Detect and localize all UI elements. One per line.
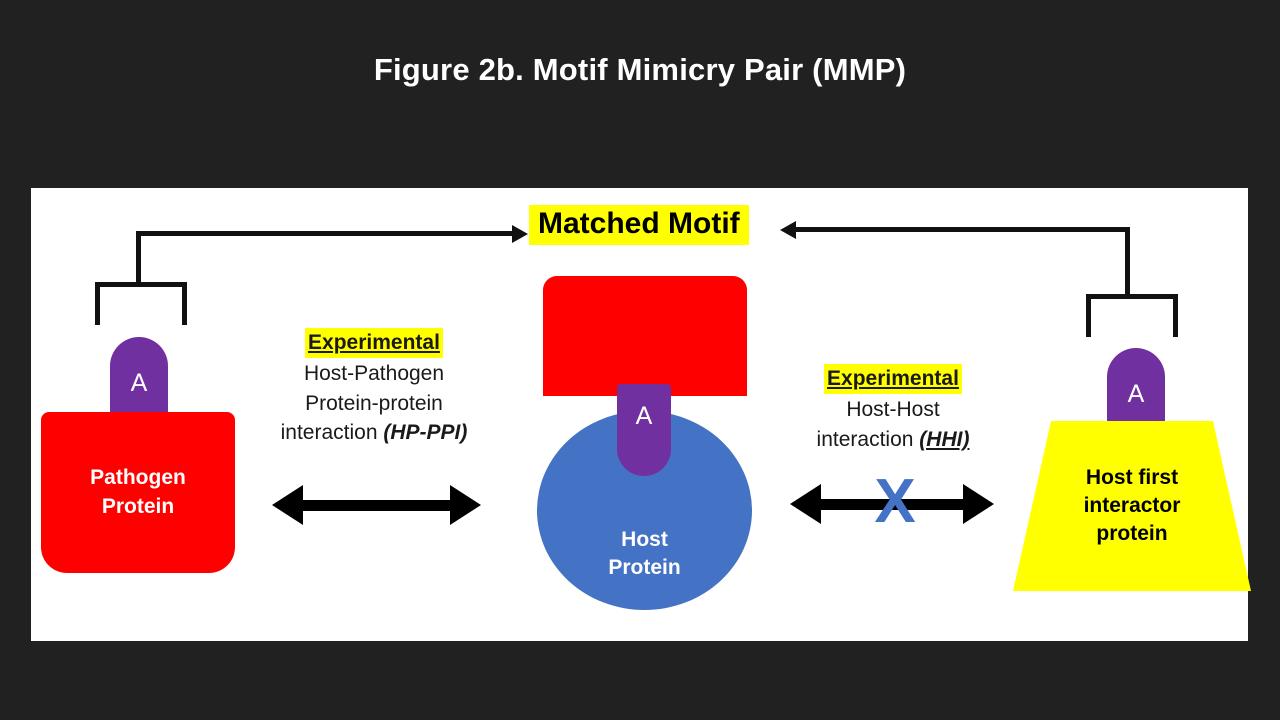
interaction-arrow-hp-ppi (272, 485, 481, 525)
right-connector-stem (1125, 227, 1130, 297)
matched-motif-label: Matched Motif (529, 205, 749, 245)
annotation-hp-ppi-code: (HP-PPI) (383, 421, 467, 444)
pathogen-protein-label-line2: Protein (102, 493, 174, 521)
annotation-hp-ppi-line3-prefix: interaction (281, 421, 384, 444)
arrow-head-right-icon (963, 484, 994, 524)
annotation-hhi-line1: Host-Host (782, 395, 1004, 425)
right-connector-arrowhead-icon (780, 221, 796, 239)
right-bracket-leg-right (1173, 294, 1178, 337)
host-interactor-label-line1: Host first (1086, 464, 1178, 492)
annotation-hhi: Experimental Host-Host interaction (HHI) (782, 364, 1004, 454)
center-pathogen-block (543, 276, 747, 396)
motif-capsule-host: A (617, 384, 671, 476)
annotation-hp-ppi-heading: Experimental (305, 328, 443, 358)
left-connector-line (136, 231, 520, 236)
arrow-shaft (300, 500, 453, 511)
arrow-head-right-icon (450, 485, 481, 525)
left-bracket-leg-left (95, 282, 100, 325)
left-connector-stem (136, 231, 141, 284)
annotation-hp-ppi-line2: Protein-protein (248, 389, 500, 419)
left-bracket-leg-right (182, 282, 187, 325)
host-interactor-label-line2: interactor (1084, 492, 1181, 520)
no-interaction-x-icon: X (868, 468, 922, 536)
right-connector-line (795, 227, 1130, 232)
annotation-hp-ppi: Experimental Host-Pathogen Protein-prote… (248, 328, 500, 448)
right-bracket-leg-left (1086, 294, 1091, 337)
arrow-head-left-icon (790, 484, 821, 524)
annotation-hp-ppi-line1: Host-Pathogen (248, 359, 500, 389)
page-title: Figure 2b. Motif Mimicry Pair (MMP) (0, 52, 1280, 88)
annotation-hhi-code: (HHI) (919, 428, 969, 451)
node-pathogen-protein: Pathogen Protein (41, 412, 235, 573)
arrow-head-left-icon (272, 485, 303, 525)
left-bracket-bar (95, 282, 187, 287)
host-protein-label-line1: Host (621, 526, 668, 554)
annotation-hhi-line2-prefix: interaction (817, 428, 920, 451)
right-bracket-bar (1086, 294, 1178, 299)
annotation-hp-ppi-line3: interaction (HP-PPI) (248, 418, 500, 448)
node-host-first-interactor-protein: Host first interactor protein (1013, 421, 1251, 591)
annotation-hhi-heading: Experimental (824, 364, 962, 394)
host-protein-label-line2: Protein (608, 554, 680, 582)
annotation-hhi-line2: interaction (HHI) (782, 425, 1004, 455)
host-interactor-label-line3: protein (1096, 520, 1167, 548)
left-connector-arrowhead-icon (512, 225, 528, 243)
pathogen-protein-label-line1: Pathogen (90, 464, 186, 492)
